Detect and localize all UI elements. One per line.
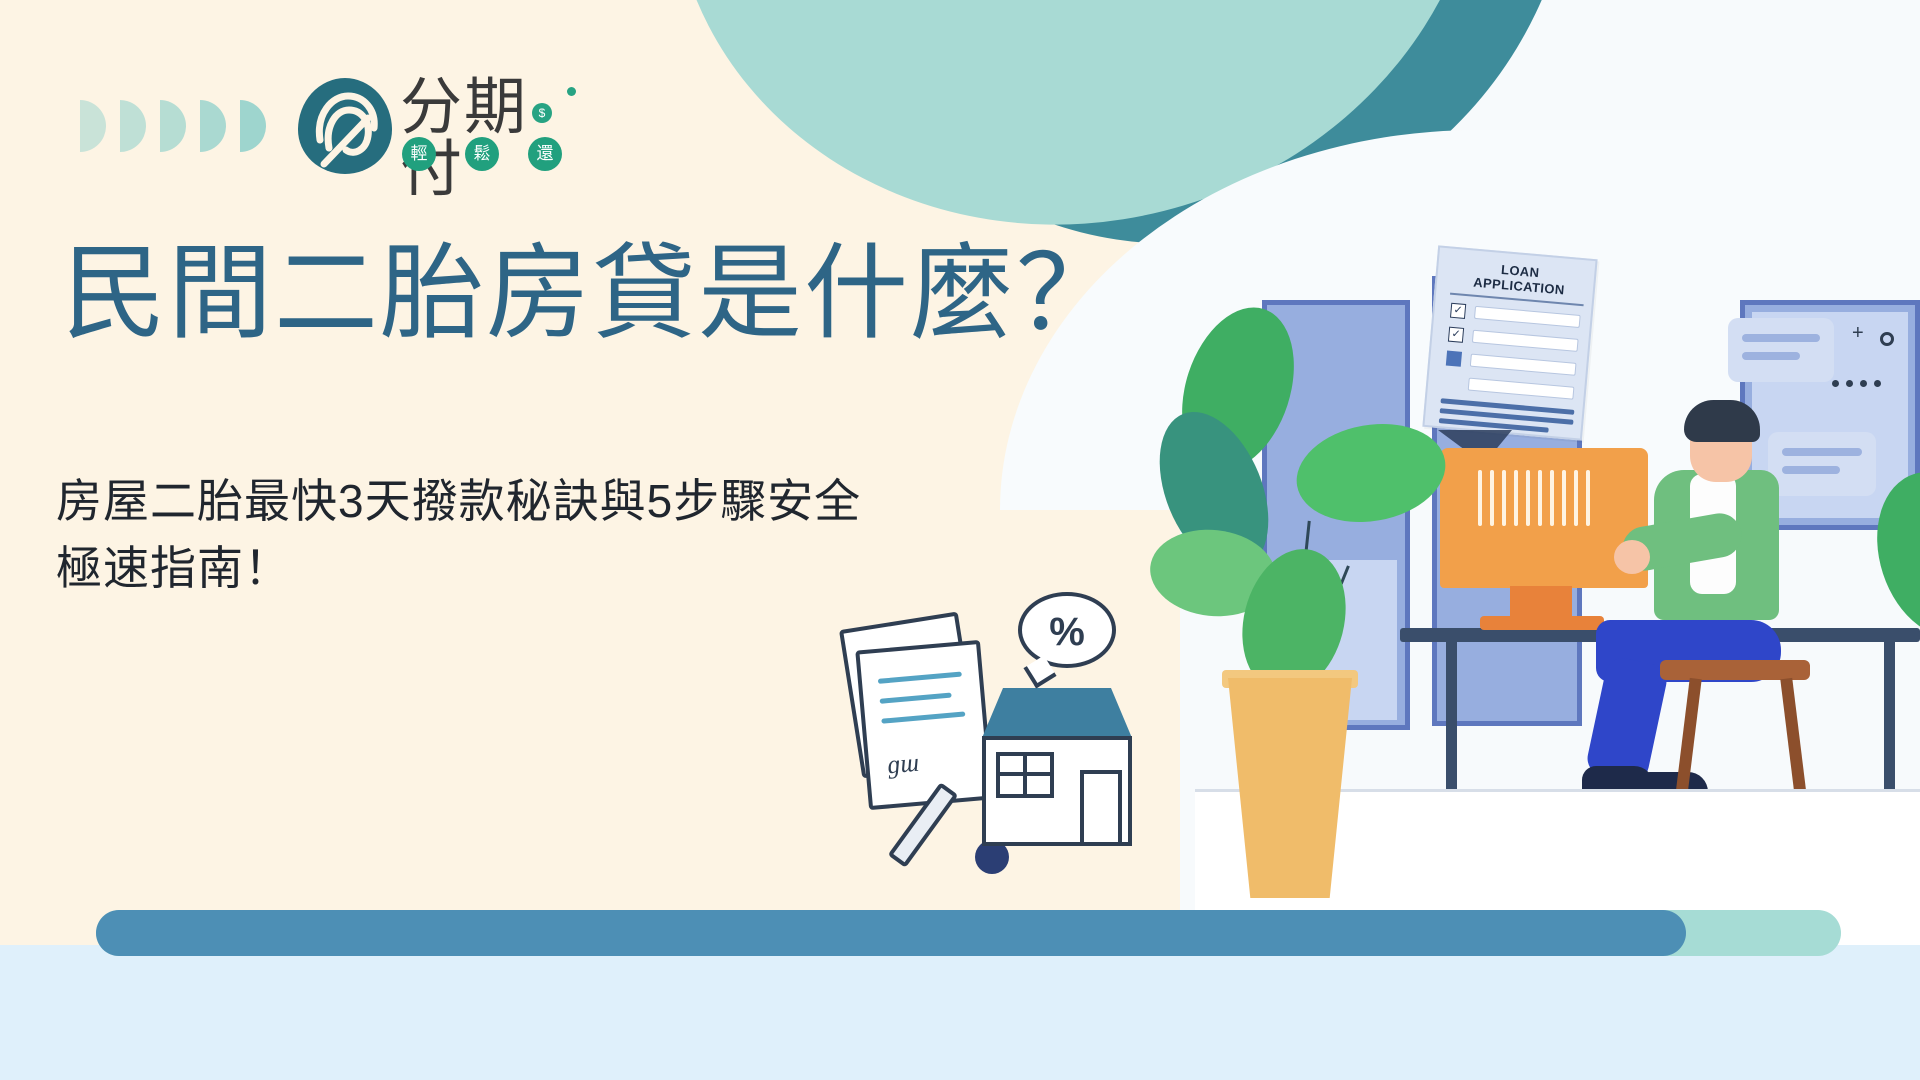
progress-bar-fill: [96, 910, 1686, 956]
loan-field-1: [1474, 306, 1581, 328]
half-dot-icon: [120, 100, 146, 152]
logo-badge-1: 輕: [402, 137, 436, 171]
contract-line-3: [881, 711, 965, 723]
contract-signature: ɡɯ: [886, 748, 920, 781]
monitor-stand-base: [1480, 616, 1604, 630]
monitor-content: [1478, 470, 1618, 526]
loan-application-document: LOAN APPLICATION ✓ ✓: [1422, 245, 1597, 440]
monitor-stand-neck: [1510, 586, 1572, 620]
chat-bubble-two-line-2: [1782, 466, 1840, 474]
loan-field-2: [1472, 330, 1579, 352]
logo-badge-3: 還: [528, 137, 562, 171]
loan-field-3: [1470, 354, 1577, 376]
banner-canvas: + LOAN APPLICATION ✓ ✓: [0, 0, 1920, 1080]
logo-badges: 輕 鬆 還: [402, 137, 562, 171]
logo-badge-2: 鬆: [465, 137, 499, 171]
loan-checkbox-3: [1446, 351, 1462, 367]
desk-leg-right: [1884, 640, 1895, 792]
logo-half-dots: [80, 100, 266, 152]
dotted-connector: [1832, 380, 1881, 387]
chat-bubble-one-line-1: [1742, 334, 1820, 342]
chat-bubble-two: [1768, 432, 1876, 496]
loan-checkbox-2: ✓: [1448, 327, 1464, 343]
house-roof: [982, 688, 1132, 738]
ring-icon: [1880, 332, 1894, 346]
bottom-background: [0, 940, 1920, 1080]
brand-logo[interactable]: 分期付 $ 輕 鬆 還: [80, 75, 580, 175]
desk-leg-left: [1446, 640, 1457, 792]
page-subtitle: 房屋二胎最快3天撥款秘訣與5步驟安全極速指南！: [56, 468, 886, 601]
logo-coin-icon: $: [532, 103, 552, 123]
logo-fingerprint-icon: [298, 78, 392, 174]
contract-front-page: ɡɯ: [855, 640, 993, 810]
half-dot-icon: [80, 100, 106, 152]
house-door: [1080, 770, 1122, 846]
half-dot-icon: [160, 100, 186, 152]
plus-icon: +: [1852, 322, 1864, 345]
logo-accent-dot-icon: [567, 87, 576, 96]
percent-speech-bubble: %: [1018, 592, 1116, 668]
half-dot-icon: [200, 100, 226, 152]
loan-field-4: [1468, 378, 1575, 400]
chat-bubble-two-line-1: [1782, 448, 1862, 456]
loan-checkbox-1: ✓: [1450, 303, 1466, 319]
page-title: 民間二胎房貸是什麼？: [62, 238, 1082, 350]
contract-line-1: [878, 672, 962, 684]
half-dot-icon: [240, 100, 266, 152]
chat-bubble-one: [1728, 318, 1834, 382]
contract-line-2: [880, 693, 952, 704]
house-window-bar-v: [1023, 752, 1027, 798]
person-hair: [1684, 400, 1760, 442]
stool-seat: [1660, 660, 1810, 680]
chat-bubble-one-line-2: [1742, 352, 1800, 360]
person-hand: [1614, 540, 1650, 574]
